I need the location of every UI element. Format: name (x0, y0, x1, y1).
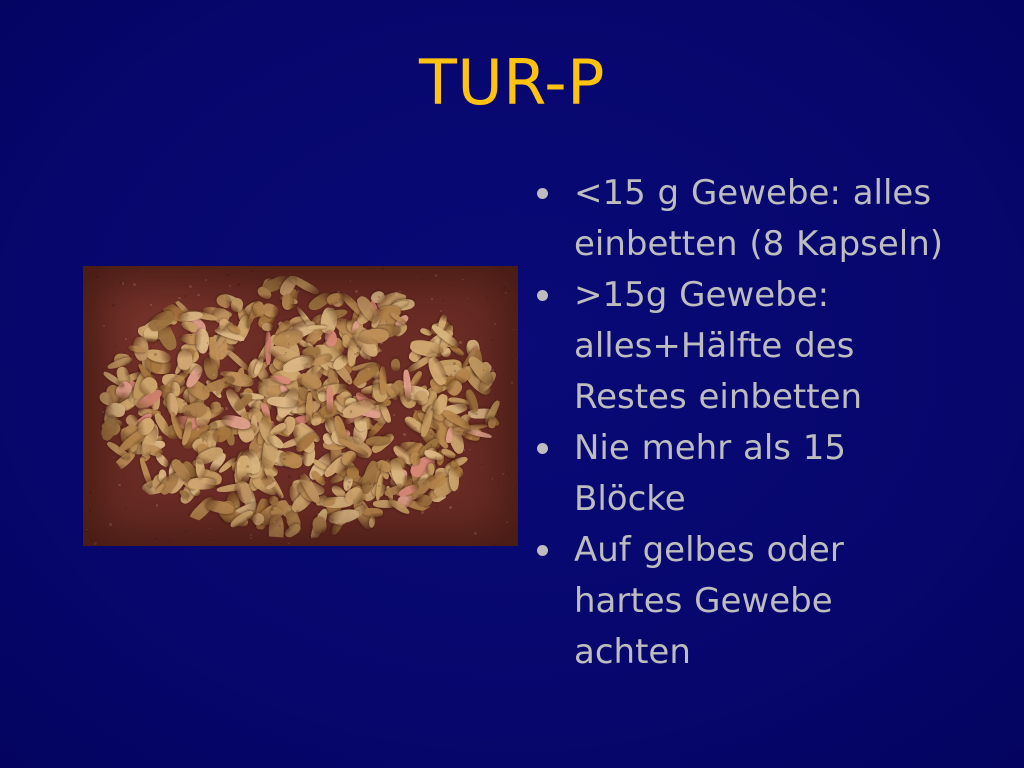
list-item: Auf gelbes oder hartes Gewebe achten (533, 525, 953, 678)
list-item: <15 g Gewebe: alles einbetten (8 Kapseln… (533, 168, 953, 270)
tissue-chip-mass (97, 276, 505, 538)
bullet-list: <15 g Gewebe: alles einbetten (8 Kapseln… (533, 168, 953, 678)
slide-canvas: TUR-P <15 g Gewebe: alles einbetten (8 K… (0, 0, 1024, 768)
list-item: >15g Gewebe: alles+Hälfte des Restes ein… (533, 270, 953, 423)
tissue-chip (188, 478, 216, 490)
tissue-chip (281, 294, 294, 311)
bullet-dot-icon (537, 290, 548, 301)
bullet-dot-icon (537, 443, 548, 454)
list-item-label: Nie mehr als 15 Blöcke (574, 423, 953, 525)
tissue-chip (236, 455, 251, 483)
tissue-chip (262, 476, 273, 484)
bullet-dot-icon (537, 188, 548, 199)
list-item: Nie mehr als 15 Blöcke (533, 423, 953, 525)
tissue-chip (196, 329, 210, 355)
tissue-chip (312, 517, 327, 534)
page-title: TUR-P (0, 48, 1024, 118)
tissue-chip (488, 417, 498, 429)
tissue-chip (269, 515, 285, 538)
tissue-chip (391, 359, 401, 372)
list-item-label: >15g Gewebe: alles+Hälfte des Restes ein… (574, 270, 953, 423)
turp-tissue-chips-photo (83, 266, 518, 546)
tissue-chip (358, 327, 389, 345)
tissue-chip (326, 385, 334, 413)
tissue-chip (324, 330, 338, 347)
list-item-label: Auf gelbes oder hartes Gewebe achten (574, 525, 953, 678)
tissue-chip (410, 452, 421, 466)
bullet-dot-icon (537, 545, 548, 556)
tissue-chip (379, 367, 387, 395)
list-item-label: <15 g Gewebe: alles einbetten (8 Kapseln… (574, 168, 953, 270)
